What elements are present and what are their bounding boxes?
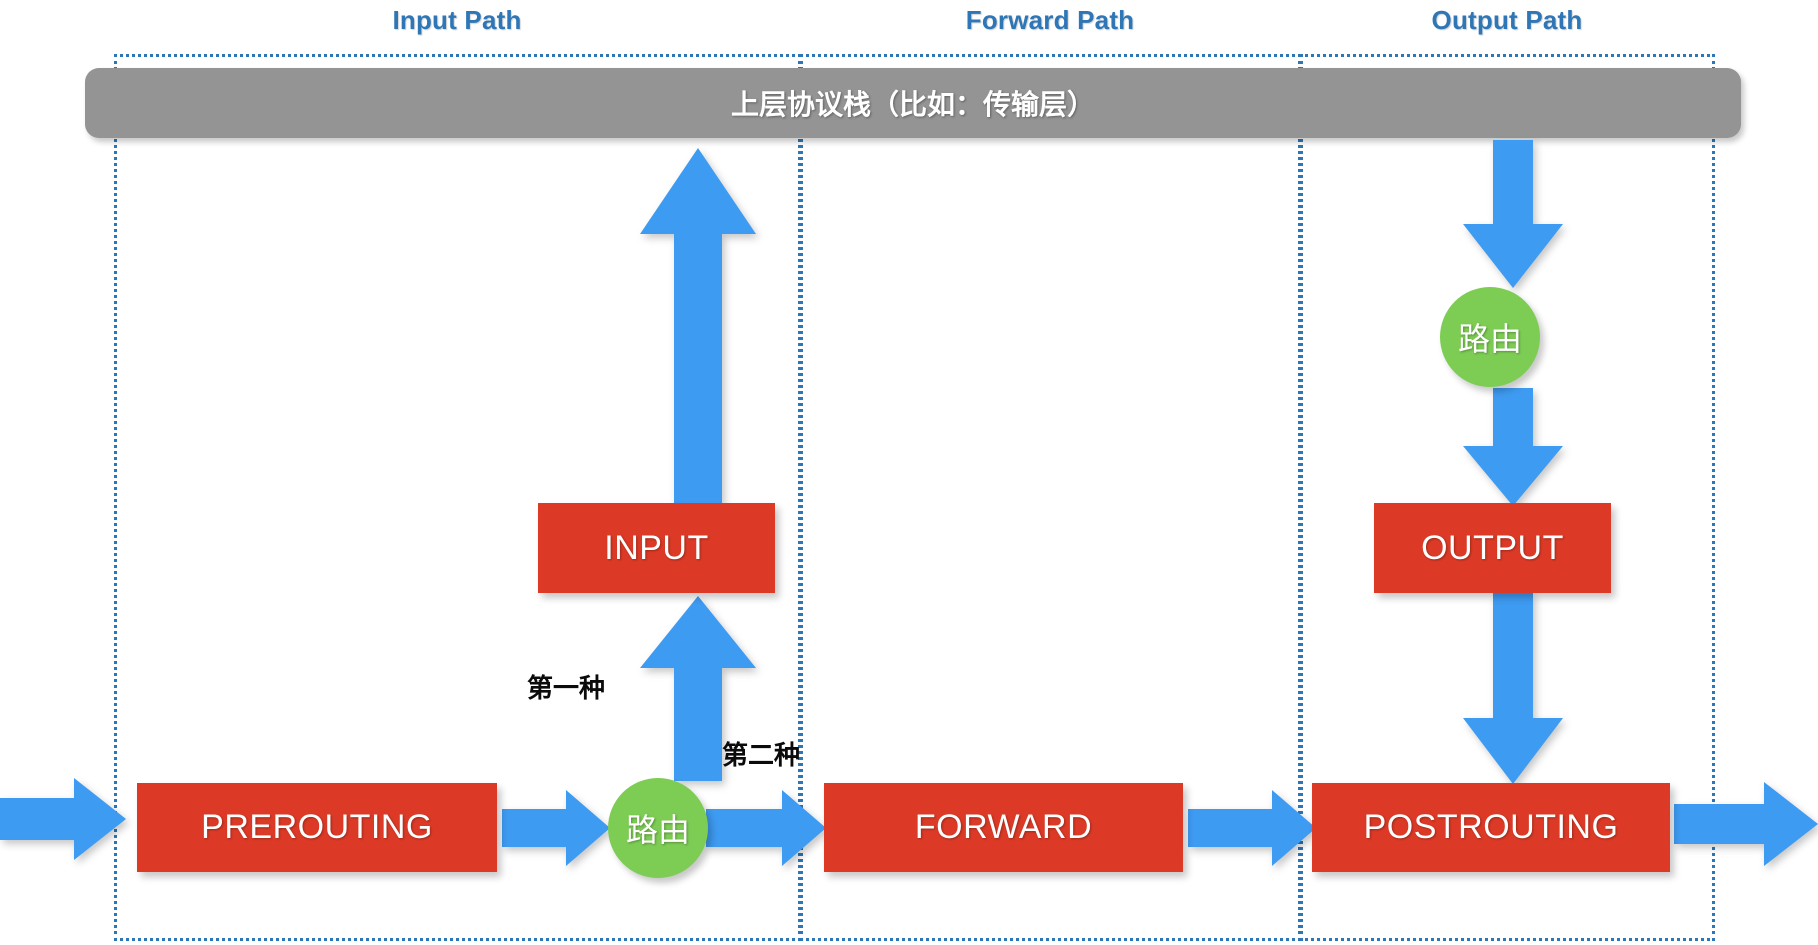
arrow-stack-to-route-down: [1463, 140, 1563, 288]
chain-box-forward-label: FORWARD: [915, 808, 1092, 847]
route-circle-bottom-label: 路由: [626, 805, 690, 851]
diagram-canvas: Input Path Forward Path Output Path 上层协议…: [0, 0, 1818, 945]
chain-box-input[interactable]: INPUT: [538, 503, 775, 593]
arrow-route-to-forward: [706, 790, 826, 866]
note-label-second: 第二种: [722, 735, 800, 772]
arrow-postrouting-to-egress: [1674, 782, 1818, 866]
route-circle-output[interactable]: 路由: [1440, 287, 1540, 387]
note-label-first: 第一种: [527, 668, 605, 705]
chain-box-prerouting[interactable]: PREROUTING: [137, 783, 497, 872]
chain-box-output[interactable]: OUTPUT: [1374, 503, 1611, 593]
lane-label-output-path: Output Path: [1300, 5, 1714, 36]
arrow-input-to-stack-up: [640, 148, 756, 503]
upper-protocol-stack-bar: 上层协议栈（比如：传输层）: [85, 68, 1741, 138]
arrow-output-to-postrouting-down: [1463, 592, 1563, 784]
route-circle-bottom[interactable]: 路由: [608, 778, 708, 878]
chain-box-prerouting-label: PREROUTING: [201, 808, 433, 847]
lane-label-input-path: Input Path: [114, 5, 800, 36]
arrow-prerouting-to-route: [502, 790, 610, 866]
arrow-ingress-to-prerouting: [0, 778, 126, 860]
arrow-route-to-output-down: [1463, 388, 1563, 506]
arrow-forward-to-postrouting: [1188, 790, 1316, 866]
chain-box-postrouting-label: POSTROUTING: [1364, 808, 1619, 847]
chain-box-forward[interactable]: FORWARD: [824, 783, 1183, 872]
chain-box-output-label: OUTPUT: [1421, 529, 1564, 568]
route-circle-output-label: 路由: [1458, 314, 1522, 360]
chain-box-input-label: INPUT: [604, 529, 709, 568]
chain-box-postrouting[interactable]: POSTROUTING: [1312, 783, 1670, 872]
upper-protocol-stack-label: 上层协议栈（比如：传输层）: [731, 83, 1095, 123]
lane-label-forward-path: Forward Path: [800, 5, 1300, 36]
